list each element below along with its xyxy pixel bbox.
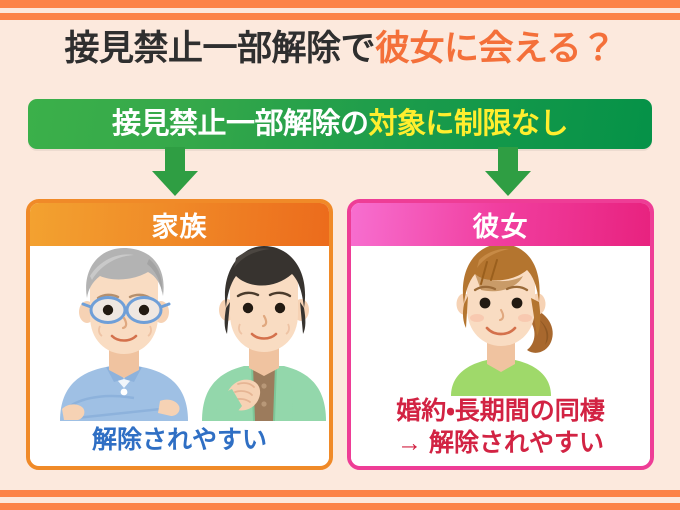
card-family-caption-line-1: 解除されやすい xyxy=(30,425,329,455)
card-girlfriend-caption: 婚約・長期間の同棲 → 解除されやすい xyxy=(351,395,650,459)
page-title-accent: 彼女に会える？ xyxy=(375,29,615,68)
bottom-rule-primary xyxy=(0,490,680,497)
arrow-stem xyxy=(165,147,185,172)
page-title: 接見禁止一部解除で彼女に会える？ xyxy=(0,26,680,72)
key-message-text: 接見禁止一部解除の対象に制限なし xyxy=(112,109,568,139)
card-girlfriend: 彼女 xyxy=(347,199,654,470)
top-rule-secondary xyxy=(0,13,680,20)
arrow-head xyxy=(152,171,198,196)
down-arrow-icon-girlfriend xyxy=(485,147,531,195)
card-family-header: 家族 xyxy=(29,202,330,246)
key-message-highlight: 対象に制限なし xyxy=(369,108,569,140)
elderly-couple-illustration xyxy=(30,246,329,421)
card-family: 家族 xyxy=(26,199,333,470)
top-rule-primary xyxy=(0,0,680,8)
card-girlfriend-caption-line-1: 婚約・長期間の同棲 xyxy=(351,395,650,427)
card-family-caption: 解除されやすい xyxy=(30,425,329,455)
down-arrow-icon-family xyxy=(152,147,198,195)
card-girlfriend-caption-line-2: → 解除されやすい xyxy=(351,427,650,459)
key-message-banner: 接見禁止一部解除の対象に制限なし xyxy=(28,99,652,149)
infographic-canvas: 接見禁止一部解除で彼女に会える？ 接見禁止一部解除の対象に制限なし 家族 xyxy=(0,0,680,510)
card-family-body: 解除されやすい xyxy=(30,246,329,465)
page-title-base: 接見禁止一部解除で xyxy=(65,29,376,68)
key-message-base: 接見禁止一部解除の xyxy=(112,108,369,140)
card-girlfriend-header: 彼女 xyxy=(350,202,651,246)
young-woman-illustration xyxy=(351,246,650,396)
arrow-stem xyxy=(498,147,518,172)
bottom-rule-secondary xyxy=(0,503,680,510)
arrow-head xyxy=(485,171,531,196)
card-girlfriend-body: 婚約・長期間の同棲 → 解除されやすい xyxy=(351,246,650,465)
